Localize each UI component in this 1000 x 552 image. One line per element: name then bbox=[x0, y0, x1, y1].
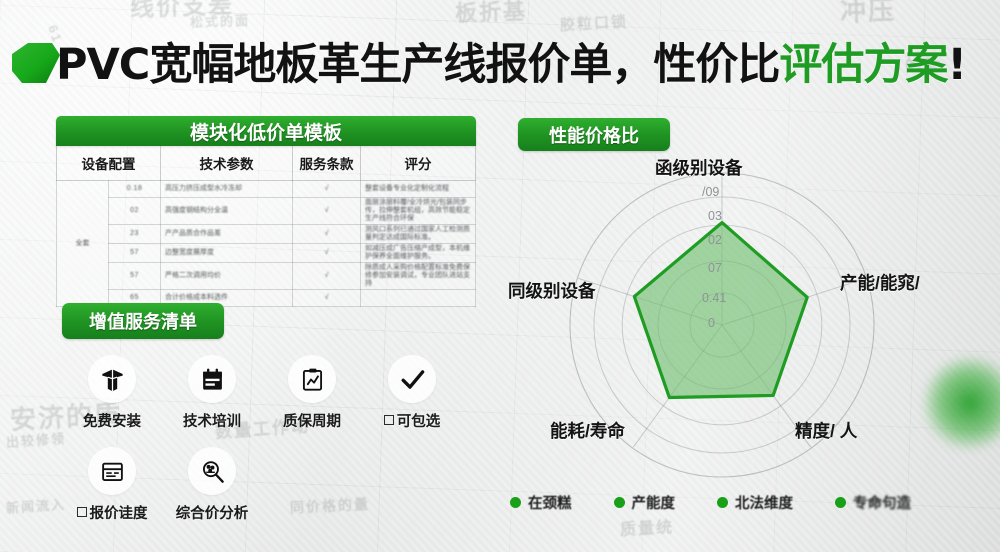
radar-axis-label-0: 函级别设备 bbox=[655, 155, 743, 180]
calendar-icon bbox=[188, 355, 236, 403]
page-title-highlight: 评估方案 bbox=[779, 40, 947, 90]
service-label: 免费安装 bbox=[62, 410, 162, 431]
cell-service-check: √ bbox=[293, 198, 361, 225]
service-label-text: 综合价分析 bbox=[176, 506, 249, 522]
clipboard-chart-icon bbox=[288, 355, 336, 403]
value-added-banner: 增值服务清单 bbox=[62, 303, 224, 339]
radar-axis-label-1: 产能/能窕/ bbox=[840, 270, 920, 295]
value-added-row-2: 报价诖度综合价分析 bbox=[62, 447, 462, 523]
legend-item[interactable]: 专命句造 bbox=[835, 492, 911, 513]
page-title-plain: PVC宽幅地板革生产线报价单，性价比 bbox=[56, 40, 779, 90]
service-label-text: 技术培训 bbox=[183, 414, 241, 430]
cell-score: 测风口系列已通过国家人工检测质量判定达成国际标准。 bbox=[361, 225, 476, 244]
cell-score: 整套设备专业化定制化流程 bbox=[361, 181, 476, 198]
cell-service-check: √ bbox=[293, 244, 361, 263]
table-row: 57严格二次调用均价√除质成人采购价格配置标准免费保修参加安装调试，专业团队进站… bbox=[57, 263, 476, 290]
cell-service-check: √ bbox=[293, 181, 361, 198]
value-added-row-1: 免费安装技术培训质保周期可包选 bbox=[62, 355, 462, 431]
checkbox-icon[interactable] bbox=[77, 507, 87, 517]
cell-param: 高强度钢结构分全温 bbox=[161, 198, 293, 225]
radar-tick-0: 0 bbox=[708, 316, 715, 330]
cell-service-check: √ bbox=[293, 290, 361, 307]
quotation-table: 设备配置 技术参数 服务条款 评分 全套0.18高压力挤压成型水冷冻却√整套设备… bbox=[56, 146, 476, 307]
service-item[interactable]: 免费安装 bbox=[62, 355, 162, 431]
search-chart-icon bbox=[188, 447, 236, 495]
service-item[interactable]: 可包选 bbox=[362, 355, 462, 431]
legend-label: 专命句造 bbox=[853, 492, 911, 513]
service-label-text: 可包选 bbox=[397, 414, 441, 430]
column-header-score: 评分 bbox=[361, 146, 476, 181]
service-label: 报价诖度 bbox=[62, 502, 162, 523]
cell-code: 0.18 bbox=[109, 181, 161, 198]
table-row: 02高强度钢结构分全温√面层涂层料覆/全冷烘光/包装同步传，拉伸整套机组，高效节… bbox=[57, 198, 476, 225]
service-label: 技术培训 bbox=[162, 410, 262, 431]
page-header: PVC宽幅地板革生产线报价单，性价比评估方案! bbox=[0, 28, 1000, 98]
service-item[interactable]: 综合价分析 bbox=[162, 447, 262, 523]
legend-dot-icon bbox=[614, 497, 625, 508]
legend-dot-icon bbox=[510, 497, 521, 508]
cell-param: 产产品质合作品差 bbox=[161, 225, 293, 244]
cell-merged-config: 全套 bbox=[57, 181, 109, 307]
cell-service-check: √ bbox=[293, 263, 361, 290]
legend-item[interactable]: 在颈糕 bbox=[510, 492, 572, 513]
radar-axis-label-3: 能耗/寿命 bbox=[550, 418, 625, 443]
legend-label: 在颈糕 bbox=[528, 492, 572, 513]
radar-tick-5: /09 bbox=[702, 185, 719, 199]
legend-item[interactable]: 产能度 bbox=[614, 492, 676, 513]
quotation-table-banner: 模块化低价单模板 bbox=[56, 116, 476, 146]
column-header-params: 技术参数 bbox=[161, 146, 293, 181]
cell-code: 57 bbox=[109, 263, 161, 290]
legend-label: 北法维度 bbox=[735, 492, 793, 513]
cell-code: 57 bbox=[109, 244, 161, 263]
cell-score: 除质成人采购价格配置标准免费保修参加安装调试，专业团队进站支持 bbox=[361, 263, 476, 290]
column-header-service: 服务条款 bbox=[293, 146, 361, 181]
column-header-config: 设备配置 bbox=[57, 146, 161, 181]
table-row: 57边整宽度展厚度√如减压成广告压缩产成型，本机维护保养全面维护服务。 bbox=[57, 244, 476, 263]
service-item[interactable]: 质保周期 bbox=[262, 355, 362, 431]
page-title: PVC宽幅地板革生产线报价单，性价比评估方案! bbox=[56, 30, 966, 92]
report-icon bbox=[88, 447, 136, 495]
radar-tick-4: 03 bbox=[708, 209, 722, 223]
check-icon bbox=[388, 355, 436, 403]
radar-tick-2: 07 bbox=[708, 261, 722, 275]
radar-legend: 在颈糕产能度北法维度专命句造 bbox=[510, 492, 970, 513]
service-label-text: 免费安装 bbox=[83, 414, 141, 430]
service-label: 质保周期 bbox=[262, 410, 362, 431]
cell-code: 23 bbox=[109, 225, 161, 244]
service-label-text: 质保周期 bbox=[283, 414, 341, 430]
radar-tick-1: 0.41 bbox=[702, 291, 726, 305]
radar-axis-label-2: 精度/ 人 bbox=[795, 418, 857, 443]
table-body: 全套0.18高压力挤压成型水冷冻却√整套设备专业化定制化流程02高强度钢结构分全… bbox=[57, 181, 476, 307]
radar-chart: 函级别设备产能/能窕/精度/ 人能耗/寿命同级别设备00.41070203/09 bbox=[490, 150, 1000, 480]
checkbox-icon[interactable] bbox=[384, 415, 394, 425]
radar-banner: 性能价格比 bbox=[518, 118, 670, 151]
cell-param: 边整宽度展厚度 bbox=[161, 244, 293, 263]
quotation-table-card: 模块化低价单模板 设备配置 技术参数 服务条款 评分 全套0.18高压力挤压成型… bbox=[56, 116, 476, 283]
cell-service-check: √ bbox=[293, 225, 361, 244]
cell-score: 面层涂层料覆/全冷烘光/包装同步传，拉伸整套机组，高效节能稳定生产线符合环保 bbox=[361, 198, 476, 225]
radar-tick-3: 02 bbox=[708, 233, 722, 247]
legend-label: 产能度 bbox=[632, 492, 676, 513]
service-item[interactable]: 技术培训 bbox=[162, 355, 262, 431]
cell-score bbox=[361, 290, 476, 307]
table-row: 全套0.18高压力挤压成型水冷冻却√整套设备专业化定制化流程 bbox=[57, 181, 476, 198]
service-label: 可包选 bbox=[362, 410, 462, 431]
service-item[interactable]: 报价诖度 bbox=[62, 447, 162, 523]
cell-score: 如减压成广告压缩产成型，本机维护保养全面维护服务。 bbox=[361, 244, 476, 263]
page-title-tail: ! bbox=[947, 40, 966, 90]
service-label: 综合价分析 bbox=[162, 502, 262, 523]
radar-axis-label-4: 同级别设备 bbox=[508, 278, 596, 303]
table-header-row: 设备配置 技术参数 服务条款 评分 bbox=[57, 146, 476, 181]
cell-param: 严格二次调用均价 bbox=[161, 263, 293, 290]
cell-code: 02 bbox=[109, 198, 161, 225]
table-row: 23产产品质合作品差√测风口系列已通过国家人工检测质量判定达成国际标准。 bbox=[57, 225, 476, 244]
legend-item[interactable]: 北法维度 bbox=[717, 492, 793, 513]
legend-dot-icon bbox=[717, 497, 728, 508]
service-label-text: 报价诖度 bbox=[90, 506, 148, 522]
legend-dot-icon bbox=[835, 497, 846, 508]
cell-param: 高压力挤压成型水冷冻却 bbox=[161, 181, 293, 198]
radar-series-polygon bbox=[634, 223, 807, 398]
box-open-icon bbox=[88, 355, 136, 403]
value-added-grid: 免费安装技术培训质保周期可包选 报价诖度综合价分析 bbox=[62, 355, 462, 523]
